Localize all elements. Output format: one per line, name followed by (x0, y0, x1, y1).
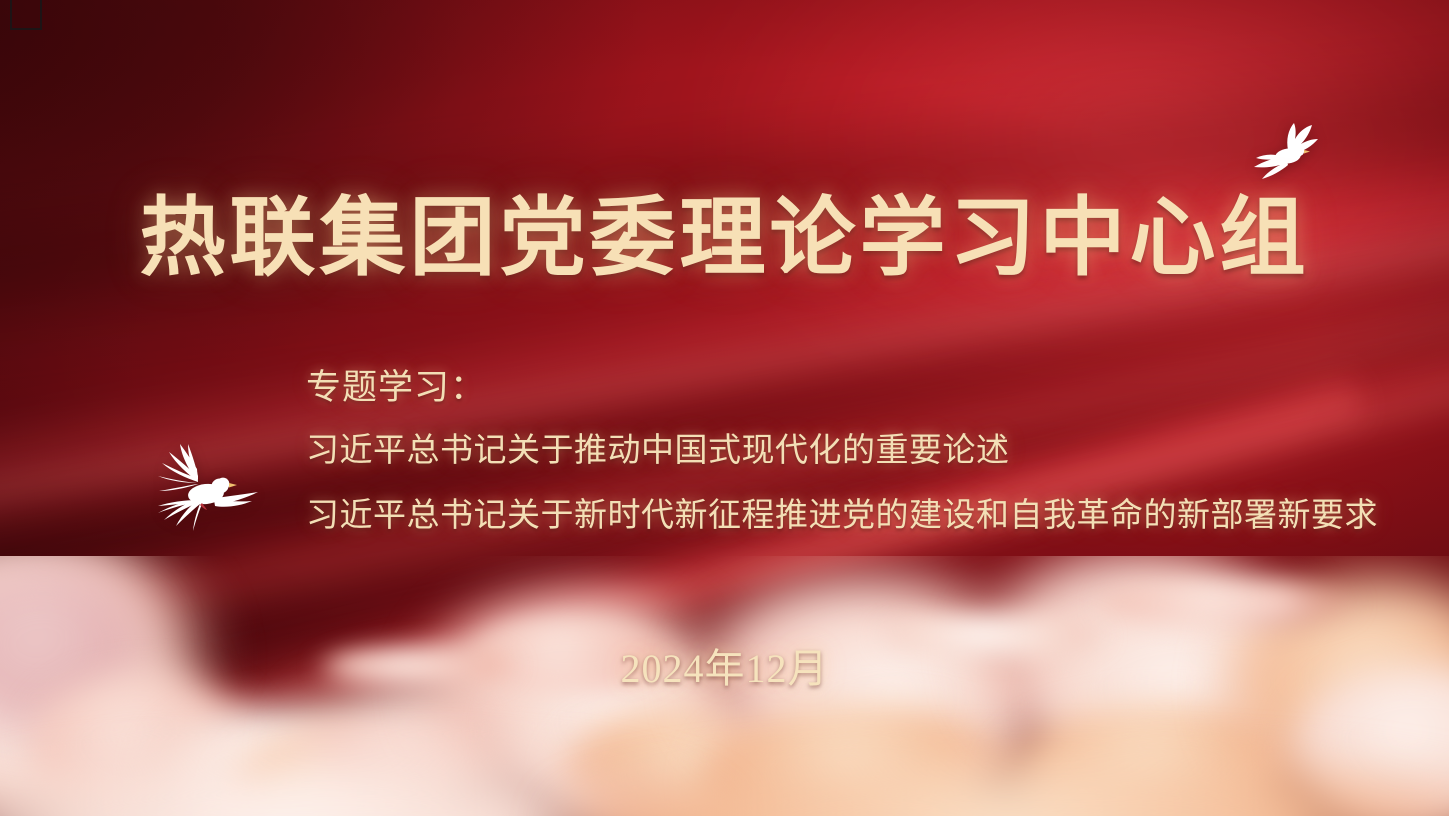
subtitle-topic-2: 习近平总书记关于新时代新征程推进党的建设和自我革命的新部署新要求 (306, 500, 1378, 533)
subtitle-label: 专题学习： (306, 370, 1378, 405)
subtitle-block: 专题学习： 习近平总书记关于推动中国式现代化的重要论述 习近平总书记关于新时代新… (306, 370, 1378, 533)
date-line: 2024年12月 (0, 636, 1449, 694)
page-title: 热联集团党委理论学习中心组 (0, 192, 1449, 285)
subtitle-topic-1: 习近平总书记关于推动中国式现代化的重要论述 (306, 435, 1378, 468)
dove-icon (1244, 116, 1326, 188)
page-number-text: 20 (18, 29, 35, 30)
dove-top-right (1244, 116, 1326, 188)
page-number-marker[interactable]: 20 (10, 0, 42, 30)
date-text: 2024年12月 (621, 636, 829, 694)
presentation-title-slide: 热联集团党委理论学习中心组 专题学习： 习近平总书记关于推动中国式现代化的重要论… (0, 0, 1449, 816)
dove-icon (136, 436, 260, 546)
dove-middle-left (136, 436, 260, 546)
